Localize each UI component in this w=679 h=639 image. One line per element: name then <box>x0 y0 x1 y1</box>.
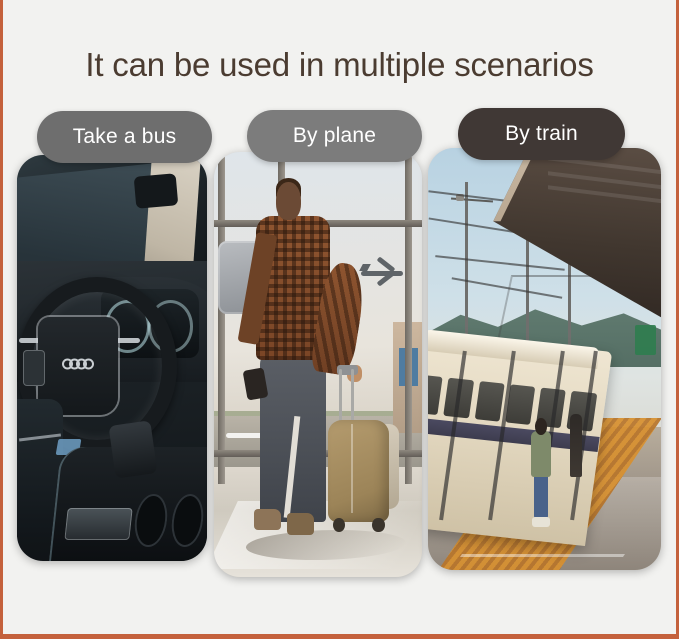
scenario-gallery <box>0 0 679 639</box>
steering-button-pad <box>23 350 46 387</box>
traveller-head <box>276 182 301 220</box>
window-mullion-vertical <box>405 152 412 484</box>
scenario-image-train <box>428 148 661 570</box>
cup-holders <box>131 488 206 553</box>
scenario-image-bus <box>17 155 207 561</box>
suitcase-wheel <box>372 518 384 533</box>
passenger-legs <box>534 473 548 519</box>
steering-spoke-right <box>116 338 141 343</box>
passenger-head <box>535 418 547 435</box>
audi-rings-logo <box>62 359 94 370</box>
rearview-mirror <box>133 174 177 210</box>
scenario-card-train[interactable] <box>428 148 661 570</box>
scenario-label-train[interactable]: By train <box>458 108 625 160</box>
traveller-shoe-right <box>287 513 314 534</box>
suitcase-seam <box>351 424 353 513</box>
scenario-label-plane[interactable]: By plane <box>247 110 422 162</box>
passenger-torso <box>531 431 552 477</box>
page-border-left <box>0 0 3 639</box>
passenger-shoes <box>532 517 551 527</box>
platform-edge-line <box>460 554 625 557</box>
console-control-strip <box>65 508 133 540</box>
station-sign <box>635 325 656 355</box>
scenario-label-bus[interactable]: Take a bus <box>37 111 212 163</box>
page-border-bottom <box>0 634 679 639</box>
airplane-in-sky <box>361 267 403 279</box>
scenario-card-bus[interactable] <box>17 155 207 561</box>
rolling-suitcase <box>328 420 388 522</box>
suitcase-handle-bar <box>351 369 354 424</box>
traveller-shoe-left <box>254 509 281 530</box>
window-mullion-vertical <box>218 152 225 484</box>
suitcase-handle-bar <box>339 369 342 424</box>
scenario-image-plane <box>214 152 422 577</box>
page-title: It can be used in multiple scenarios <box>0 46 679 84</box>
gear-shifter <box>109 420 158 478</box>
scenario-card-plane[interactable] <box>214 152 422 577</box>
second-passenger <box>570 414 582 477</box>
